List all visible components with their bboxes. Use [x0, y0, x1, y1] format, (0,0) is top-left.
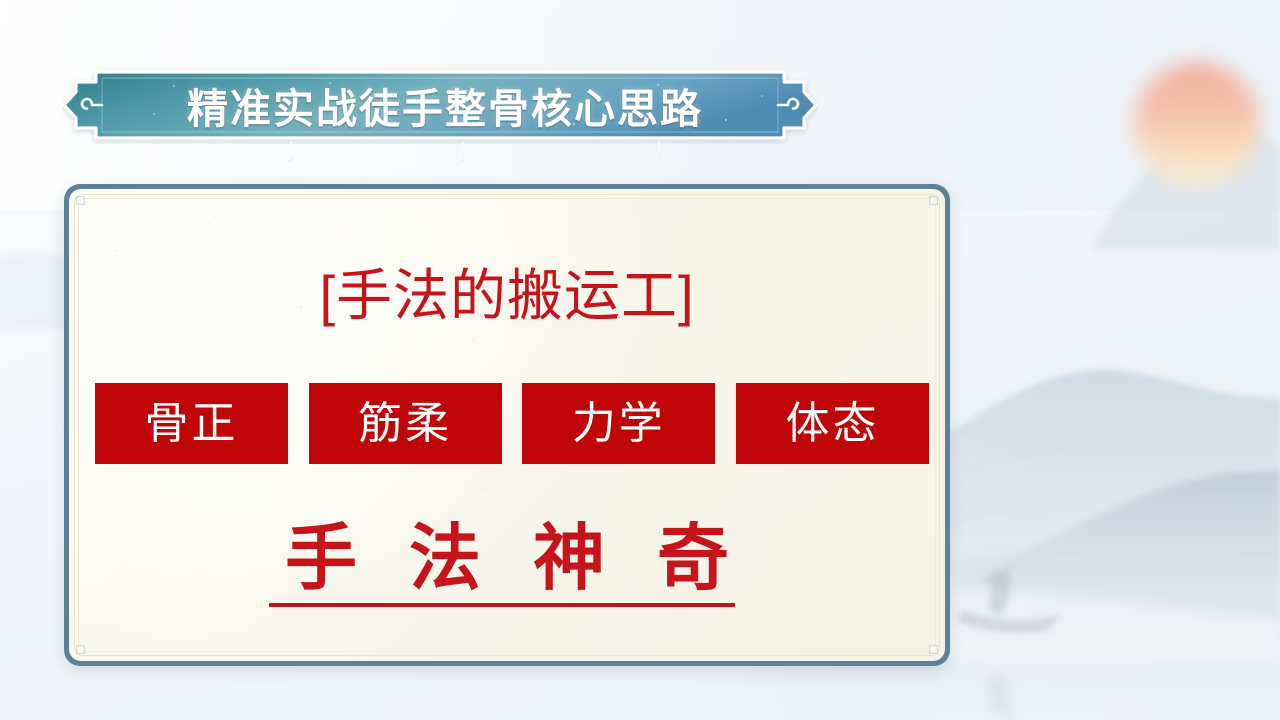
keyword-tag-guzheng[interactable]: 骨正	[95, 383, 288, 464]
keyword-tag-row: 骨正 筋柔 力学 体态	[95, 383, 929, 464]
keyword-tag-jinrou[interactable]: 筋柔	[309, 383, 502, 464]
card-headline: [手法的搬运工]	[69, 251, 945, 332]
banner-tassel-bead-2	[459, 156, 465, 162]
card-content: [手法的搬运工] 骨正 筋柔 力学 体态 手 法 神 奇	[69, 189, 945, 661]
keyword-tag-label: 力学	[572, 402, 666, 446]
banner-tassel-bead-1	[287, 156, 293, 162]
keyword-tag-label: 筋柔	[358, 402, 452, 446]
keyword-tag-label: 骨正	[145, 402, 239, 446]
title-banner: 精准实战徒手整骨核心思路	[62, 66, 818, 144]
emphasis-text: 手 法 神 奇	[69, 499, 945, 604]
keyword-tag-titai[interactable]: 体态	[736, 383, 929, 464]
content-card-paper: [手法的搬运工] 骨正 筋柔 力学 体态 手 法 神 奇	[69, 189, 945, 661]
emphasis-underline	[269, 603, 735, 607]
slide-root: 精准实战徒手整骨核心思路	[0, 0, 1280, 720]
keyword-tag-lixue[interactable]: 力学	[522, 383, 715, 464]
sun-decoration	[1134, 62, 1260, 188]
content-card: [手法的搬运工] 骨正 筋柔 力学 体态 手 法 神 奇	[64, 184, 950, 666]
keyword-tag-label: 体态	[785, 402, 879, 446]
banner-tassel-bead-3	[655, 156, 661, 162]
banner-title-text: 精准实战徒手整骨核心思路	[62, 66, 818, 144]
